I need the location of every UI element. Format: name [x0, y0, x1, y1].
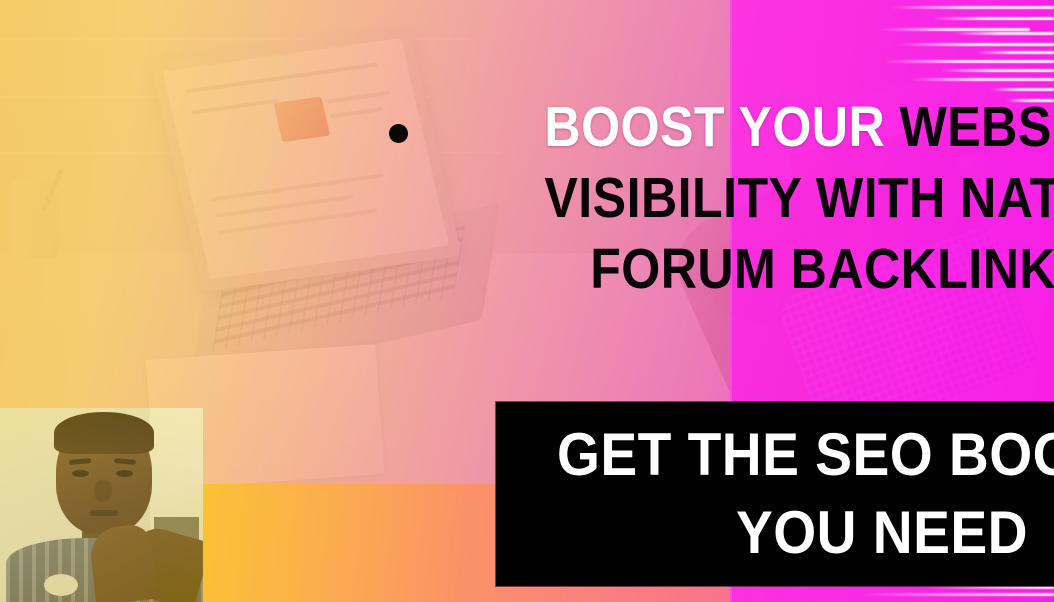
cta-line-2: YOU NEED — [557, 494, 1028, 572]
presenter-webcam-overlay — [0, 408, 203, 602]
seo-gig-thumbnail: BOOST YOUR WEBSITE'S VISIBILITY WITH NAT… — [0, 0, 1054, 602]
headline-line-1-white: BOOST YOUR — [544, 95, 885, 159]
headline-line-2: VISIBILITY WITH NATURAL — [544, 163, 1054, 234]
headline: BOOST YOUR WEBSITE'S VISIBILITY WITH NAT… — [544, 92, 1054, 305]
headline-line-1-black: WEBSITE'S — [899, 95, 1054, 159]
headline-line-1: BOOST YOUR WEBSITE'S — [544, 92, 1054, 163]
headline-line-3: FORUM BACKLINKS — [544, 234, 1054, 305]
cta-banner: GET THE SEO BOOST YOU NEED — [496, 402, 1054, 586]
cta-text: GET THE SEO BOOST YOU NEED — [557, 416, 1028, 572]
cta-line-1: GET THE SEO BOOST — [557, 416, 1028, 494]
bullet-dot-icon — [389, 124, 408, 143]
webcam-color-tint — [0, 408, 203, 602]
